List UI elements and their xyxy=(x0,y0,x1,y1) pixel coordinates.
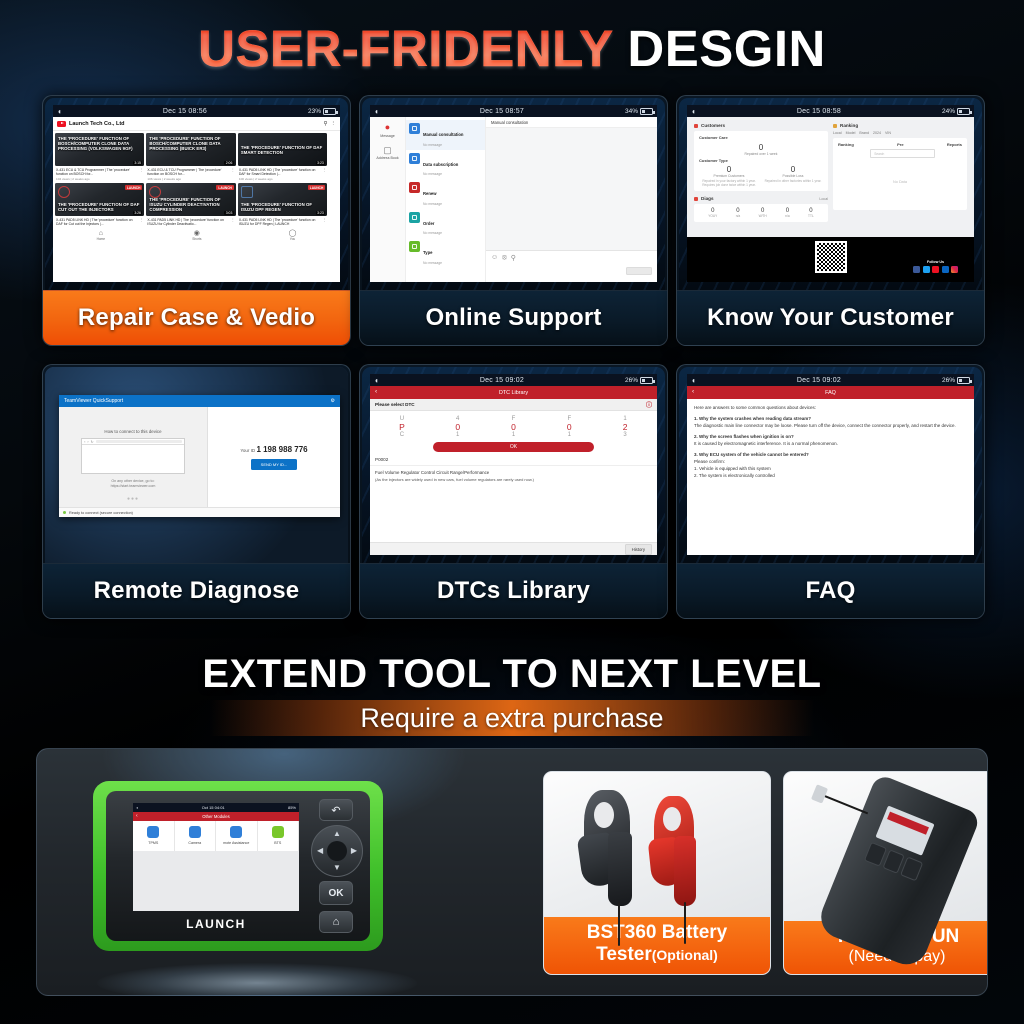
tab-label: You xyxy=(289,237,297,241)
module-label: mote Assistance xyxy=(217,841,256,845)
settings-icon[interactable]: ⚙ xyxy=(331,398,335,404)
video-meta: X-431 PAD5 LINK HD | The 'procedure' fun… xyxy=(239,218,320,227)
product-image-battery-tester xyxy=(544,772,770,917)
dpad-center[interactable] xyxy=(327,841,347,861)
browser-mockup: ‹›↻ xyxy=(81,438,185,474)
status-bar: ◖ Dec 15 08:58 24% xyxy=(687,105,974,117)
feature-card-repair-case[interactable]: ◖ Dec 15 08:56 23% Launch Tech Co., Ltd … xyxy=(42,95,351,346)
battery-percent: 23% xyxy=(308,108,321,115)
status-time: Dec 15 09:02 xyxy=(480,377,524,384)
video-title: THE 'PROCEDURE' FUNCTION OF ISUZU DPF RE… xyxy=(241,202,324,212)
diags-filter[interactable]: Local xyxy=(819,197,828,201)
dtc-note: (As the injectors are widely used in new… xyxy=(370,477,657,482)
youtube-tabbar: ⌂Home ◉Shorts ◯You xyxy=(53,227,340,242)
diag-label: n/a xyxy=(785,214,789,218)
online-support-app: ●Message ▢Address Book Manual consultati… xyxy=(370,117,657,282)
filter-local[interactable]: Local xyxy=(833,131,842,135)
feature-row-2: TeamViewer QuickSupport ⚙ How to connect… xyxy=(42,364,986,619)
faq-answer: The diagnostic main line connector may b… xyxy=(694,423,967,430)
id-panel: Your ID 1 198 988 776 SEND MY ID... xyxy=(208,407,340,507)
wifi-icon: ◖ xyxy=(57,107,62,116)
battery-percent: 34% xyxy=(625,108,638,115)
battery-icon xyxy=(640,377,653,384)
tablet-screen-faq: ◖ Dec 15 09:02 26% ‹ FAQ Here are answer… xyxy=(679,367,982,563)
support-rail: ●Message ▢Address Book xyxy=(370,117,406,282)
conversation-sub: No message xyxy=(423,143,463,147)
status-bar: ◖ Dec 15 08:56 23% xyxy=(53,105,340,117)
follow-us-label: Follow Us xyxy=(913,260,958,264)
dtc-footer: History xyxy=(370,542,657,555)
type-sub: Repaired in your factory within 1 year. … xyxy=(699,179,759,187)
video-meta: X-431 PAD5 LINK HD | The 'procedure' fun… xyxy=(147,218,228,227)
card-label: Online Support xyxy=(360,290,667,345)
video-title: THE 'PROCEDURE' FUNCTION OF BOSCH/COMPUT… xyxy=(58,136,141,152)
diag-label: TTL xyxy=(808,214,814,218)
remote-diagnose-screen: TeamViewer QuickSupport ⚙ How to connect… xyxy=(45,367,348,563)
dtc-code: P0002 xyxy=(370,452,657,466)
more-icon[interactable]: ⋮ xyxy=(322,218,326,227)
customer-type-item: 0Premium CustomersRepaired in your facto… xyxy=(699,165,759,187)
address-book-icon: ▢ xyxy=(370,146,405,155)
battery-percent: 26% xyxy=(942,377,955,384)
status-time: Dec 15 08:56 xyxy=(163,108,207,115)
youtube-app: Launch Tech Co., Ltd ⚲ ⋮ THE 'PROCEDURE'… xyxy=(53,117,340,282)
module-label: TPMS xyxy=(134,841,173,845)
brand-badge: LAUNCH xyxy=(216,185,233,190)
list-item[interactable]: Data subscriptionNo message xyxy=(406,150,485,180)
video-duration: 3:15 xyxy=(133,161,143,165)
module-camera[interactable]: Camera xyxy=(175,821,217,851)
chat-send-area xyxy=(486,264,657,282)
conversation-list: Manual consultationNo message Data subsc… xyxy=(406,117,486,282)
decorative-square-icon xyxy=(241,186,253,198)
chat-toolbar: ☺ ⦻ ⚲ xyxy=(486,250,657,264)
section-icon xyxy=(833,124,837,128)
back-icon[interactable]: ‹ xyxy=(375,389,377,396)
page-title: USER-FRIDENLY DESGIN xyxy=(0,14,1024,84)
conversation-icon xyxy=(409,123,420,134)
rank-col-reports: Reports xyxy=(947,142,962,147)
status-bar: ◖ Dec 15 08:57 34% xyxy=(370,105,657,117)
video-item[interactable]: LAUNCH THE 'PROCEDURE' FUNCTION OF ISUZU… xyxy=(238,183,327,226)
you-icon: ◯ xyxy=(289,230,297,237)
ranking-empty-state: No Data xyxy=(838,158,962,206)
section-title: Diags xyxy=(701,196,714,201)
conversation-icon xyxy=(409,241,420,252)
carousel-dots[interactable]: ●●● xyxy=(59,496,207,502)
section-title: Ranking xyxy=(840,123,858,128)
video-title: THE 'PROCEDURE' FUNCTION OF BOSCH/COMPUT… xyxy=(149,136,232,152)
feature-card-online-support[interactable]: ◖ Dec 15 08:57 34% ●Message ▢Address Boo… xyxy=(359,95,668,346)
dtc-appbar: ‹ DTC Library xyxy=(370,386,657,399)
battery-percent: 24% xyxy=(942,108,955,115)
tablet-screen-youtube: ◖ Dec 15 08:56 23% Launch Tech Co., Ltd … xyxy=(45,98,348,290)
video-title: THE 'PROCEDURE' FUNCTION OF DAF SMART DE… xyxy=(241,145,324,155)
more-icon[interactable]: ⋮ xyxy=(139,168,143,182)
tab-label: Home xyxy=(97,237,106,241)
section-subheading: Require a extra purchase xyxy=(210,700,814,736)
back-icon[interactable]: ‹ xyxy=(136,814,138,819)
conversation-sub: No message xyxy=(423,172,458,176)
picker-cell-selected: 0 xyxy=(430,422,486,432)
video-item[interactable]: LAUNCH THE 'PROCEDURE' FUNCTION OF ISUZU… xyxy=(146,183,235,226)
more-icon[interactable]: ⋮ xyxy=(322,168,326,182)
battery-icon xyxy=(957,108,970,115)
teamviewer-window: TeamViewer QuickSupport ⚙ How to connect… xyxy=(59,395,340,517)
battery-icon xyxy=(957,377,970,384)
conversation-sub: No message xyxy=(423,261,442,265)
video-meta: X-431 PAD5 LINK HD | The 'procedure' fun… xyxy=(239,168,320,177)
module-label: BTS xyxy=(259,841,298,845)
section-subheading-band: Require a extra purchase xyxy=(210,700,814,736)
status-time: Dec 15 08:58 xyxy=(797,108,841,115)
picker-row-selected: P 0 0 0 2 xyxy=(374,422,653,432)
product-suffix: (Optional) xyxy=(652,947,718,963)
picker-cell: 1 xyxy=(541,432,597,438)
url-bar xyxy=(96,440,182,444)
attachment-icon[interactable]: ⦻ xyxy=(502,254,507,262)
picker-row-below: C 1 1 1 3 xyxy=(374,432,653,438)
card-label: DTCs Library xyxy=(360,563,667,618)
video-views: 100 views | 2 weeks ago xyxy=(239,177,320,181)
device-battery: 85% xyxy=(288,805,296,810)
red-clamp xyxy=(648,794,714,920)
more-icon[interactable]: ⋮ xyxy=(231,168,235,182)
card-label: Repair Case & Vedio xyxy=(43,290,350,345)
picker-cell: C xyxy=(374,432,430,438)
list-item[interactable]: TypeNo message xyxy=(406,238,485,268)
dtc-description: Fuel Volume Regulator Control Circuit Ra… xyxy=(370,466,657,477)
rail-item-message[interactable]: ●Message xyxy=(370,123,405,138)
wifi-icon: ◖ xyxy=(691,107,696,116)
status-bar: ◖ Dec 15 09:02 26% xyxy=(370,374,657,386)
section-icon xyxy=(694,124,698,128)
product-caption: BST360 Battery Tester(Optional) xyxy=(544,917,770,974)
diags-panel: 0YOUY 0n/a 0W/TH 0n/a 0TTL xyxy=(694,204,828,222)
tab-shorts[interactable]: ◉Shorts xyxy=(192,230,201,242)
card-label: Remote Diagnose xyxy=(43,563,350,618)
back-icon[interactable]: ‹ xyxy=(692,389,694,396)
feature-card-faq[interactable]: ◖ Dec 15 09:02 26% ‹ FAQ Here are answer… xyxy=(676,364,985,619)
youtube-header: Launch Tech Co., Ltd ⚲ ⋮ xyxy=(53,117,340,131)
section-heading-extend: EXTEND TOOL TO NEXT LEVEL xyxy=(0,652,1024,697)
filter-year[interactable]: 2024 xyxy=(873,131,881,135)
video-thumbnail: THE 'PROCEDURE' FUNCTION OF BOSCH/COMPUT… xyxy=(55,133,144,166)
customer-care-value: 0 xyxy=(699,143,823,152)
rail-label: Address Book xyxy=(370,156,405,160)
module-grid: TPMS Camera mote Assistance BTS xyxy=(133,821,299,851)
video-item[interactable]: LAUNCH THE 'PROCEDURE' FUNCTION OF DAF C… xyxy=(55,183,144,226)
brand-badge: LAUNCH xyxy=(125,185,142,190)
video-meta: X-431 ECU & TCU Programmer | The 'proced… xyxy=(56,168,137,177)
ok-key[interactable]: OK xyxy=(319,881,353,905)
dtc-picker[interactable]: U 4 F F 1 P 0 0 0 xyxy=(370,411,657,452)
video-meta: X-431 PAD5 LINK HD | The 'procedure' fun… xyxy=(56,218,137,227)
tpms-icon xyxy=(147,826,159,838)
battery-icon xyxy=(323,108,336,115)
chat-title: Manual consultation xyxy=(486,117,657,128)
wifi-icon: ◖ xyxy=(691,376,696,385)
diag-label: W/TH xyxy=(759,214,767,218)
bottom-panel: ◖ Oct 15 04:01 85% ‹ Other Modules TPMS … xyxy=(36,748,988,996)
product-name-line2: Tester xyxy=(596,944,652,965)
more-icon[interactable]: ⋮ xyxy=(231,218,235,227)
status-text: Ready to connect (secure connection) xyxy=(69,511,133,515)
page-title-rest: DESGIN xyxy=(613,20,826,77)
kyc-footer: Follow Us xyxy=(687,237,974,282)
facebook-icon[interactable] xyxy=(913,266,920,273)
picker-cell-selected: 2 xyxy=(597,422,653,432)
conversation-sub: No message xyxy=(423,231,442,235)
section-title: Customers xyxy=(701,123,725,128)
video-title: THE 'PROCEDURE' FUNCTION OF DAF CUT OUT … xyxy=(58,202,141,212)
video-thumbnail: THE 'PROCEDURE' FUNCTION OF DAF SMART DE… xyxy=(238,133,327,166)
faq-app: ‹ FAQ Here are answers to some common qu… xyxy=(687,386,974,555)
arrow-left-icon: ◀ xyxy=(317,847,323,855)
diag-stat: 0n/a xyxy=(736,208,740,218)
product-card-bst360[interactable]: BST360 Battery Tester(Optional) xyxy=(543,771,771,975)
faq-confirm-item: 2. The system is electronically controll… xyxy=(694,473,967,480)
video-item[interactable]: THE 'PROCEDURE' FUNCTION OF BOSCH/COMPUT… xyxy=(55,133,144,181)
tab-you[interactable]: ◯You xyxy=(289,230,297,242)
faq-confirm-item: 1. Vehicle is equipped with this system xyxy=(694,466,967,473)
dtc-subtitle-bar: Please select DTC ⓘ xyxy=(370,399,657,411)
product-name-line1: BST360 Battery xyxy=(548,923,766,944)
back-key[interactable]: ↶ xyxy=(319,799,353,821)
page-title-highlight: USER-FRIDENLY xyxy=(198,20,613,77)
wifi-icon: ◖ xyxy=(374,376,379,385)
message-icon: ● xyxy=(370,123,405,132)
chat-body xyxy=(486,128,657,250)
type-name: Premium Customers xyxy=(699,174,759,178)
device-keypad: ↶ ▲ ▼ ◀ ▶ OK ⌂ xyxy=(307,799,367,935)
shorts-icon: ◉ xyxy=(192,230,201,237)
device-brand: LAUNCH xyxy=(133,917,299,931)
customer-care-title: Customer Care xyxy=(699,135,823,140)
video-thumbnail: LAUNCH THE 'PROCEDURE' FUNCTION OF ISUZU… xyxy=(146,183,235,216)
how-to-label: How to connect to this device xyxy=(59,429,207,434)
video-thumbnail: THE 'PROCEDURE' FUNCTION OF BOSCH/COMPUT… xyxy=(146,133,235,166)
device-screen: ◖ Oct 15 04:01 85% ‹ Other Modules TPMS … xyxy=(133,803,299,911)
linkedin-icon[interactable] xyxy=(942,266,949,273)
faq-question: 1. Why the system crashes when reading d… xyxy=(694,416,967,423)
module-bts[interactable]: BTS xyxy=(258,821,300,851)
filter-model[interactable]: Model xyxy=(846,131,856,135)
status-time: Dec 15 08:57 xyxy=(480,108,524,115)
how-to-panel: How to connect to this device ‹›↻ On any… xyxy=(59,407,208,507)
dpad[interactable]: ▲ ▼ ◀ ▶ xyxy=(311,825,363,877)
ranking-column: Ranking Local Model Brand 2024 VIN xyxy=(833,123,967,231)
conversation-name: Renew xyxy=(423,191,437,196)
info-icon[interactable]: ⓘ xyxy=(646,400,652,409)
usb-connector xyxy=(811,784,828,803)
send-my-id-button[interactable]: SEND MY ID... xyxy=(251,459,298,470)
feature-row-1: ◖ Dec 15 08:56 23% Launch Tech Co., Ltd … xyxy=(42,95,986,346)
video-item[interactable]: THE 'PROCEDURE' FUNCTION OF BOSCH/COMPUT… xyxy=(146,133,235,181)
launch-diagnostic-device[interactable]: ◖ Oct 15 04:01 85% ‹ Other Modules TPMS … xyxy=(93,781,383,951)
wifi-icon: ◖ xyxy=(374,107,379,116)
search-placeholder: Search xyxy=(874,152,884,156)
back-icon: ‹ xyxy=(84,440,85,444)
faq-question: 2. Why the screen flashes when ignition … xyxy=(694,434,967,441)
faq-answer: It is caused by electromagnetic interfer… xyxy=(694,441,967,448)
filter-vin[interactable]: VIN xyxy=(885,131,891,135)
customers-column: Customers Customer Care 0Repaired over 1… xyxy=(694,123,828,231)
customers-panel: Customer Care 0Repaired over 1 week Cust… xyxy=(694,131,828,191)
send-button[interactable] xyxy=(626,267,652,275)
feature-card-dtcs-library[interactable]: ◖ Dec 15 09:02 26% ‹ DTC Library Please … xyxy=(359,364,668,619)
follow-us-block: Follow Us xyxy=(913,260,958,273)
more-icon[interactable]: ⋮ xyxy=(331,121,337,127)
faq-appbar: ‹ FAQ xyxy=(687,386,974,399)
tablet-screen-online-support: ◖ Dec 15 08:57 34% ●Message ▢Address Boo… xyxy=(362,98,665,290)
feature-card-remote-diagnose[interactable]: TeamViewer QuickSupport ⚙ How to connect… xyxy=(42,364,351,619)
video-duration: 3:03 xyxy=(224,211,234,215)
module-remote-assistance[interactable]: mote Assistance xyxy=(216,821,258,851)
product-image-tsgun xyxy=(784,772,988,921)
qr-code xyxy=(815,241,847,273)
diag-stat: 0W/TH xyxy=(759,208,767,218)
more-icon[interactable]: ⋮ xyxy=(139,218,143,227)
how-to-note: On any other device, go to: https://star… xyxy=(59,479,207,489)
diag-stat: 0n/a xyxy=(785,208,789,218)
faq-lead: Here are answers to some common question… xyxy=(694,405,967,412)
emoji-icon[interactable]: ☺ xyxy=(491,254,498,261)
faq-answer: Please confirm: xyxy=(694,459,967,466)
diag-stat: 0YOUY xyxy=(708,208,717,218)
image-icon[interactable]: ⚲ xyxy=(511,254,516,262)
list-item[interactable]: OrderNo message xyxy=(406,209,485,239)
picker-cell-selected: 0 xyxy=(541,422,597,432)
youtube-icon[interactable] xyxy=(932,266,939,273)
video-thumbnail: LAUNCH THE 'PROCEDURE' FUNCTION OF ISUZU… xyxy=(238,183,327,216)
twitter-icon[interactable] xyxy=(923,266,930,273)
conversation-sub: No message xyxy=(423,202,442,206)
rank-col-pre: Pre xyxy=(897,142,903,147)
tab-label: Shorts xyxy=(192,237,201,241)
video-meta: X-431 ECU & TCU Programmer | The 'proced… xyxy=(147,168,228,177)
battery-percent: 26% xyxy=(625,377,638,384)
conversation-icon xyxy=(409,212,420,223)
video-thumbnail: LAUNCH THE 'PROCEDURE' FUNCTION OF DAF C… xyxy=(55,183,144,216)
faq-content: Here are answers to some common question… xyxy=(687,399,974,486)
type-sub: Repaired in other factories within 1 yea… xyxy=(763,179,823,183)
device-status-time: Oct 15 04:01 xyxy=(202,805,225,810)
device-appbar: ‹ Other Modules xyxy=(133,812,299,821)
reload-icon: ↻ xyxy=(91,440,94,444)
kyc-app: Customers Customer Care 0Repaired over 1… xyxy=(687,117,974,282)
tab-home[interactable]: ⌂Home xyxy=(97,230,106,242)
arrow-down-icon: ▼ xyxy=(333,864,341,872)
rail-item-address-book[interactable]: ▢Address Book xyxy=(370,146,405,161)
camera-icon xyxy=(189,826,201,838)
type-value: 0 xyxy=(699,165,759,174)
faq-question: 3. Why ECU system of the vehicle cannot … xyxy=(694,452,967,459)
device-status-bar: ◖ Oct 15 04:01 85% xyxy=(133,803,299,812)
feature-card-know-your-customer[interactable]: ◖ Dec 15 08:58 24% Customers Customer Ca… xyxy=(676,95,985,346)
bts-icon xyxy=(272,826,284,838)
podium-glow xyxy=(97,963,417,996)
status-dot-icon xyxy=(63,511,66,514)
dtc-subtitle: Please select DTC xyxy=(375,402,415,407)
forward-icon: › xyxy=(87,440,88,444)
remote-assistance-icon xyxy=(230,826,242,838)
appbar-title: FAQ xyxy=(825,390,836,396)
ranking-panel: Ranking Pre Reports Search No Data xyxy=(833,138,967,210)
video-duration: 3:23 xyxy=(316,211,326,215)
instagram-icon[interactable] xyxy=(951,266,958,273)
ranking-filters: Local Model Brand 2024 VIN xyxy=(833,131,967,135)
window-title: TeamViewer QuickSupport xyxy=(64,398,123,404)
section-icon xyxy=(694,197,698,201)
picker-cell-selected: P xyxy=(374,422,430,432)
id-value: 1 198 988 776 xyxy=(256,445,307,454)
dtc-app: ‹ DTC Library Please select DTC ⓘ U 4 xyxy=(370,386,657,555)
video-duration: 2:06 xyxy=(224,161,234,165)
customer-care-caption: Repaired over 1 week xyxy=(699,152,823,156)
window-titlebar: TeamViewer QuickSupport ⚙ xyxy=(59,395,340,407)
conversation-name: Data subscription xyxy=(423,162,458,167)
list-item[interactable]: RenewNo message xyxy=(406,179,485,209)
search-icon[interactable]: ⚲ xyxy=(323,121,327,127)
status-time: Dec 15 09:02 xyxy=(797,377,841,384)
type-name: Possible Loss xyxy=(763,174,823,178)
video-item[interactable]: THE 'PROCEDURE' FUNCTION OF DAF SMART DE… xyxy=(238,133,327,181)
customer-type-item: 0Possible LossRepaired in other factorie… xyxy=(763,165,823,187)
device-appbar-title: Other Modules xyxy=(202,814,229,819)
tablet-screen-dashboard: ◖ Dec 15 08:58 24% Customers Customer Ca… xyxy=(679,98,982,290)
ok-button[interactable]: OK xyxy=(433,442,595,452)
black-clamp xyxy=(578,790,652,920)
conversation-name: Order xyxy=(423,221,434,226)
product-card-tpms-tsgun[interactable]: TPMS TSGUN (Need to pay) xyxy=(783,771,988,975)
rail-label: Message xyxy=(370,134,405,138)
diag-stat: 0TTL xyxy=(808,208,814,218)
rank-col-ranking: Ranking xyxy=(838,142,854,147)
diag-label: YOUY xyxy=(708,214,717,218)
history-button[interactable]: History xyxy=(625,544,652,555)
picker-cell: 3 xyxy=(597,432,653,438)
video-duration: 3:23 xyxy=(316,161,326,165)
decorative-circle-icon xyxy=(58,186,70,198)
home-key[interactable]: ⌂ xyxy=(319,911,353,933)
video-title: THE 'PROCEDURE' FUNCTION OF ISUZU CYLIND… xyxy=(149,197,232,213)
video-views: 104 views | 2 weeks ago xyxy=(56,177,137,181)
picker-cell: 1 xyxy=(430,432,486,438)
picker-cell-selected: 0 xyxy=(486,422,542,432)
feature-grid: ◖ Dec 15 08:56 23% Launch Tech Co., Ltd … xyxy=(42,95,986,619)
appbar-title: DTC Library xyxy=(499,390,528,396)
arrow-right-icon: ▶ xyxy=(351,847,357,855)
video-duration: 3:26 xyxy=(133,211,143,215)
conversation-name: Manual consultation xyxy=(423,132,463,137)
video-grid: THE 'PROCEDURE' FUNCTION OF BOSCH/COMPUT… xyxy=(53,131,340,227)
ranking-search-input[interactable]: Search xyxy=(870,149,934,158)
tablet-screen-dtc: ◖ Dec 15 09:02 26% ‹ DTC Library Please … xyxy=(362,367,665,563)
filter-brand[interactable]: Brand xyxy=(859,131,869,135)
module-tpms[interactable]: TPMS xyxy=(133,821,175,851)
status-bar: ◖ Dec 15 09:02 26% xyxy=(687,374,974,386)
youtube-logo-icon xyxy=(57,121,66,127)
wifi-icon: ◖ xyxy=(136,805,138,810)
picker-cell: 1 xyxy=(486,432,542,438)
list-item[interactable]: Manual consultationNo message xyxy=(406,120,485,150)
diag-label: n/a xyxy=(736,214,740,218)
poster-background: USER-FRIDENLY DESGIN ◖ Dec 15 08:56 23% xyxy=(0,0,1024,1024)
channel-name: Launch Tech Co., Ltd xyxy=(69,121,320,127)
conversation-icon xyxy=(409,182,420,193)
type-value: 0 xyxy=(763,165,823,174)
